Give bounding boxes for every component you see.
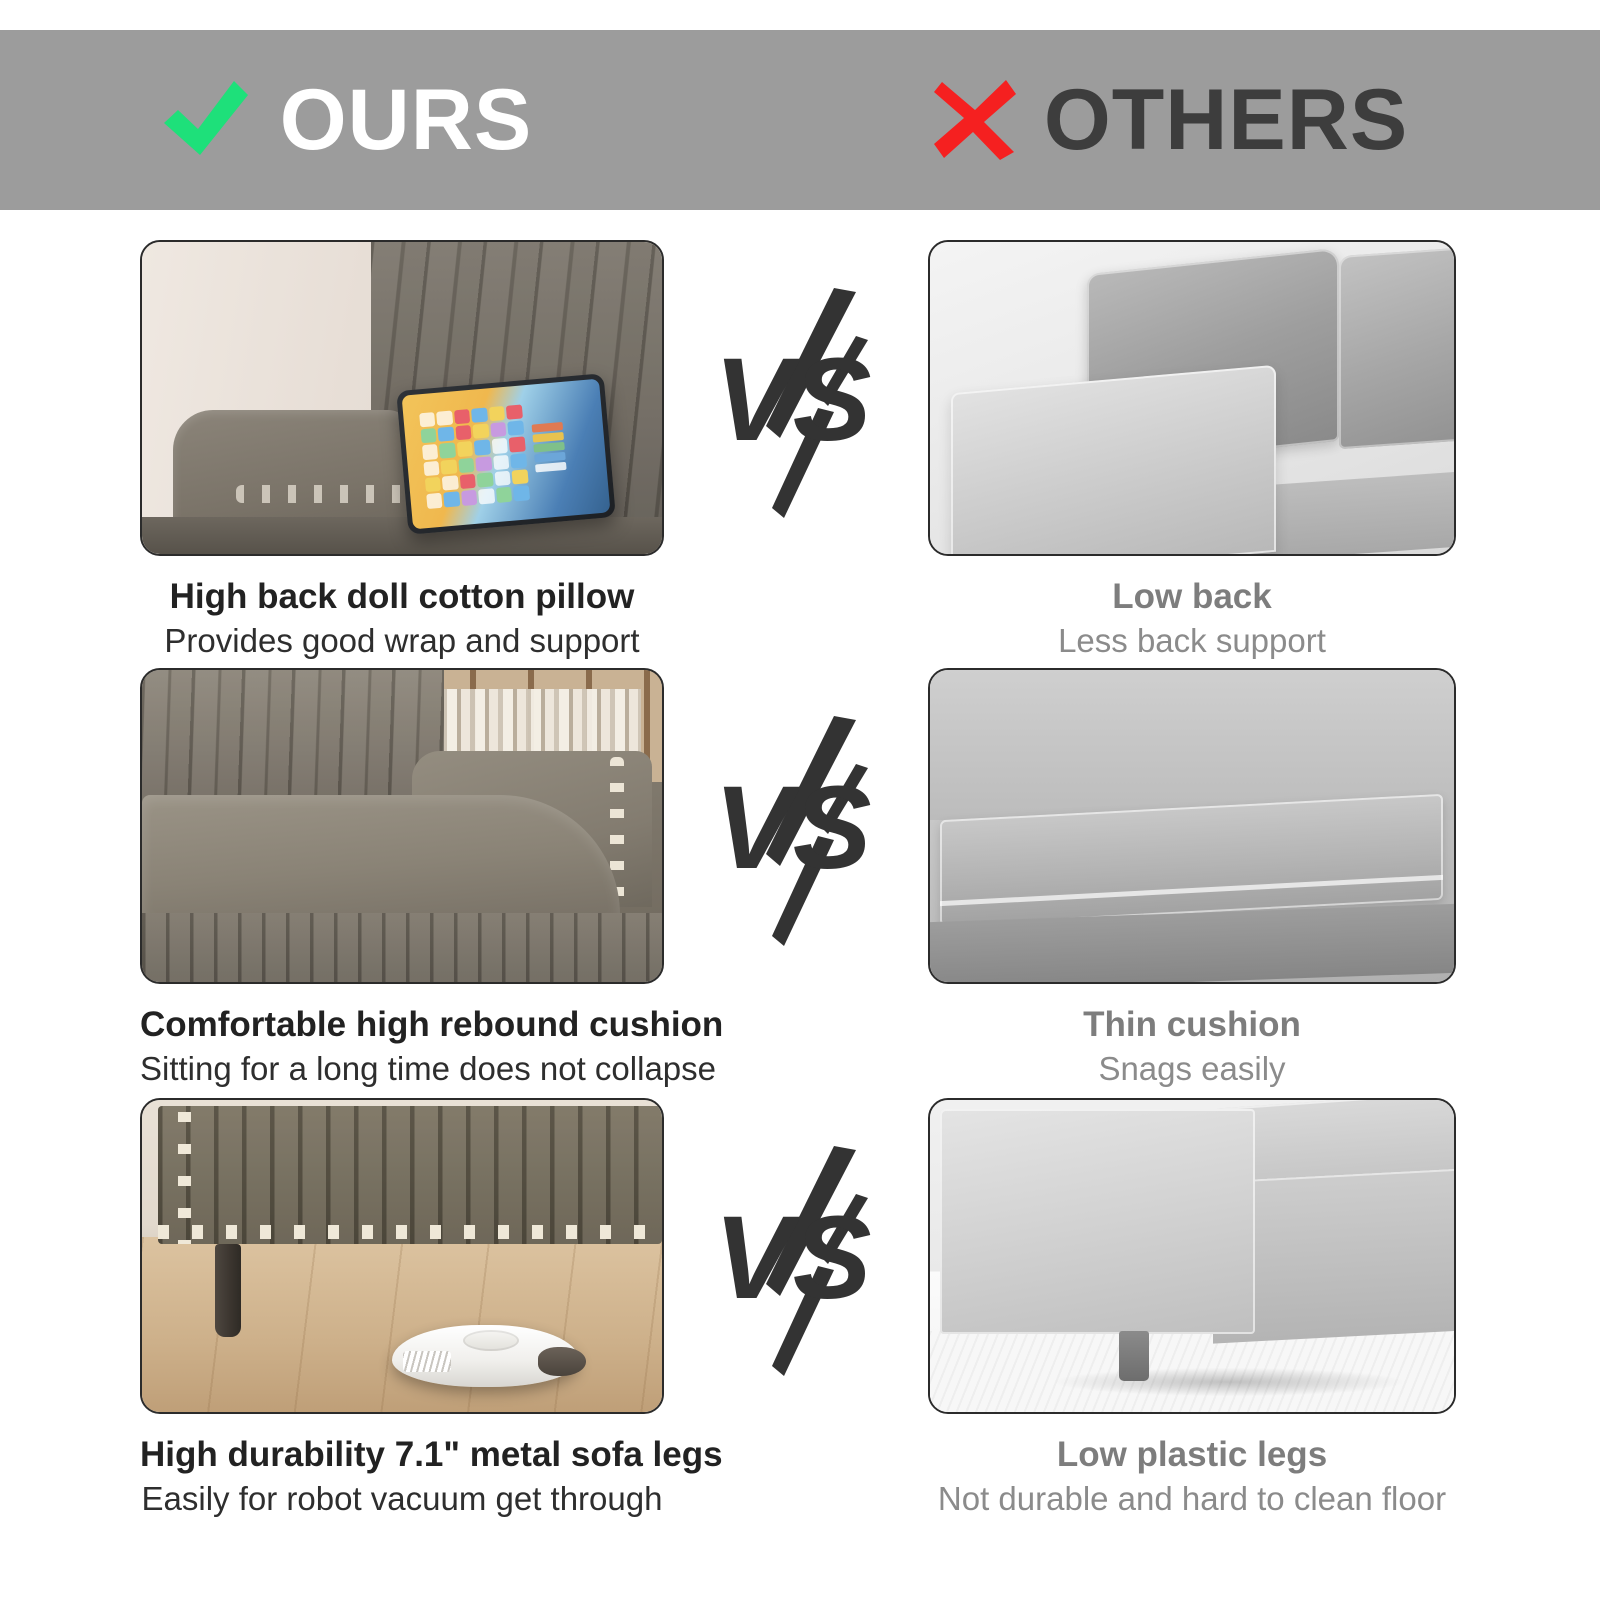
drop-shadow — [1056, 1368, 1402, 1396]
row-2-others-caption: Thin cushion Snags easily — [928, 1004, 1456, 1089]
vacuum-vent — [403, 1351, 452, 1372]
row-3-ours-image — [140, 1098, 664, 1414]
row-1-ours-subtitle: Provides good wrap and support — [140, 621, 664, 661]
row-1-others-title: Low back — [928, 576, 1456, 617]
row-3-ours-caption: High durability 7.1" metal sofa legs Eas… — [140, 1434, 664, 1519]
row-1-ours-cell: High back doll cotton pillow Provides go… — [140, 240, 664, 661]
header-ours-label: OURS — [280, 77, 532, 163]
cross-icon — [932, 78, 1018, 162]
back-cushion-right — [1339, 246, 1456, 450]
row-2-ours-cell: Comfortable high rebound cushion Sitting… — [140, 668, 664, 1089]
robot-vacuum — [392, 1325, 579, 1387]
app-grid — [419, 405, 530, 510]
row-3-ours-cell: High durability 7.1" metal sofa legs Eas… — [140, 1098, 664, 1519]
nailhead-trim — [236, 485, 423, 503]
plastic-sofa-leg — [1119, 1331, 1149, 1381]
vs-divider-3: VS — [706, 1146, 896, 1376]
row-3-others-subtitle: Not durable and hard to clean floor — [928, 1479, 1456, 1519]
row-2-ours-title: Comfortable high rebound cushion — [140, 1004, 664, 1045]
row-1-others-subtitle: Less back support — [928, 621, 1456, 661]
metal-sofa-leg — [215, 1244, 241, 1338]
widget-column — [531, 422, 567, 473]
sofa-side-panel — [940, 1109, 1254, 1334]
row-2-others-subtitle: Snags easily — [928, 1049, 1456, 1089]
row-3-others-caption: Low plastic legs Not durable and hard to… — [928, 1434, 1456, 1519]
vacuum-lidar-turret — [463, 1330, 519, 1351]
row-2-others-title: Thin cushion — [928, 1004, 1456, 1045]
vs-divider-1: VS — [706, 288, 896, 518]
tablet-screen — [402, 379, 611, 529]
comparison-row-2: Comfortable high rebound cushion Sitting… — [0, 668, 1600, 1088]
nailhead-trim-horizontal — [158, 1225, 662, 1239]
seat-edge — [142, 517, 662, 554]
svg-text:VS: VS — [714, 334, 871, 466]
row-2-others-image — [928, 668, 1456, 984]
vs-divider-2: VS — [706, 716, 896, 946]
row-2-others-cell: Thin cushion Snags easily — [928, 668, 1456, 1089]
row-1-ours-image — [140, 240, 664, 556]
vacuum-bumper — [538, 1347, 587, 1376]
channel-tufted-backrest — [142, 670, 444, 807]
comparison-header-banner: OURS OTHERS — [0, 30, 1600, 210]
svg-text:VS: VS — [714, 1192, 871, 1324]
check-icon — [158, 77, 254, 163]
svg-text:VS: VS — [714, 762, 871, 894]
header-ours-group: OURS — [0, 77, 800, 163]
books — [433, 689, 641, 758]
high-rebound-seat-cushion — [142, 795, 620, 920]
comparison-row-3: High durability 7.1" metal sofa legs Eas… — [0, 1098, 1600, 1518]
row-3-ours-subtitle: Easily for robot vacuum get through — [140, 1479, 664, 1519]
row-2-ours-caption: Comfortable high rebound cushion Sitting… — [140, 1004, 664, 1089]
tablet-device — [396, 374, 616, 535]
row-3-others-image — [928, 1098, 1456, 1414]
row-1-others-image — [928, 240, 1456, 556]
row-2-ours-subtitle: Sitting for a long time does not collaps… — [140, 1049, 664, 1089]
row-2-ours-image — [140, 668, 664, 984]
sofa-arm — [951, 365, 1276, 556]
channel-tufted-skirt — [142, 913, 662, 982]
row-1-others-cell: Low back Less back support — [928, 240, 1456, 661]
comparison-infographic: OURS OTHERS — [0, 0, 1600, 1600]
header-others-label: OTHERS — [1044, 77, 1408, 163]
row-3-others-cell: Low plastic legs Not durable and hard to… — [928, 1098, 1456, 1519]
row-1-ours-caption: High back doll cotton pillow Provides go… — [140, 576, 664, 661]
header-others-group: OTHERS — [800, 77, 1600, 163]
row-1-others-caption: Low back Less back support — [928, 576, 1456, 661]
row-3-others-title: Low plastic legs — [928, 1434, 1456, 1475]
row-3-ours-title: High durability 7.1" metal sofa legs — [140, 1434, 664, 1475]
comparison-row-1: High back doll cotton pillow Provides go… — [0, 240, 1600, 660]
row-1-ours-title: High back doll cotton pillow — [140, 576, 664, 617]
channel-tufted-sofa-base — [158, 1106, 662, 1243]
